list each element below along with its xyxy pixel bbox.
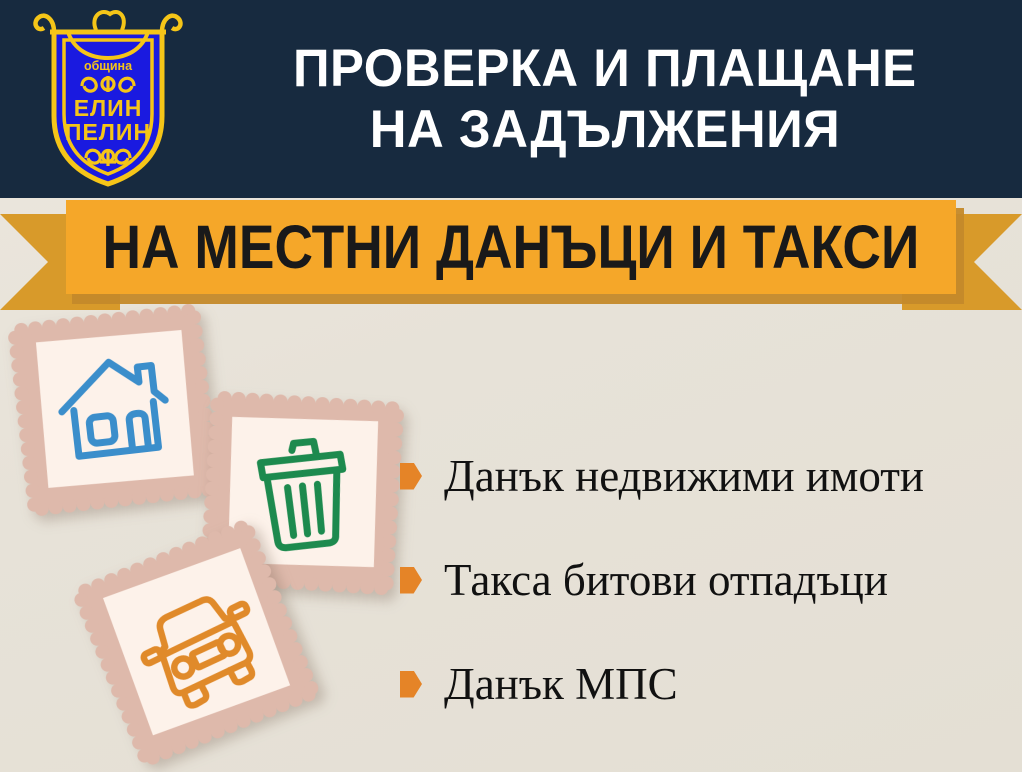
list-item-label: Такса битови отпадъци xyxy=(444,558,888,603)
arrow-bullet-icon xyxy=(400,567,422,594)
arrow-bullet-icon xyxy=(400,671,422,698)
list-item-label: Данък МПС xyxy=(444,662,678,707)
subtitle-ribbon: НА МЕСТНИ ДАНЪЦИ И ТАКСИ xyxy=(0,196,1022,314)
arrow-bullet-icon xyxy=(400,463,422,490)
logo-text-obshtina: община xyxy=(84,59,133,73)
stamp-card-house xyxy=(6,302,223,519)
logo-text-pelin: ПЕЛИН xyxy=(65,119,151,145)
ribbon-label: НА МЕСТНИ ДАНЪЦИ И ТАКСИ xyxy=(103,211,920,282)
logo-text-elin: ЕЛИН xyxy=(74,95,143,121)
tax-type-list: Данък недвижими имоти Такса битови отпад… xyxy=(400,424,1014,736)
poster-canvas: община ЕЛИН ПЕЛИН xyxy=(0,0,1022,772)
stamp-frame-house xyxy=(6,302,223,519)
header-title-block: ПРОВЕРКА И ПЛАЩАНЕ НА ЗАДЪЛЖЕНИЯ xyxy=(188,0,1022,198)
list-item[interactable]: Данък МПС xyxy=(400,632,1014,736)
page-title-line-2: НА ЗАДЪЛЖЕНИЯ xyxy=(370,100,840,159)
list-item[interactable]: Такса битови отпадъци xyxy=(400,528,1014,632)
ribbon-body: НА МЕСТНИ ДАНЪЦИ И ТАКСИ xyxy=(66,200,956,294)
municipality-logo: община ЕЛИН ПЕЛИН xyxy=(28,6,188,191)
coat-of-arms-icon: община ЕЛИН ПЕЛИН xyxy=(28,6,188,191)
stamp-paper xyxy=(36,330,194,488)
page-title-line-1: ПРОВЕРКА И ПЛАЩАНЕ xyxy=(293,39,917,98)
header-banner: община ЕЛИН ПЕЛИН xyxy=(0,0,1022,198)
list-item-label: Данък недвижими имоти xyxy=(444,454,924,499)
list-item[interactable]: Данък недвижими имоти xyxy=(400,424,1014,528)
